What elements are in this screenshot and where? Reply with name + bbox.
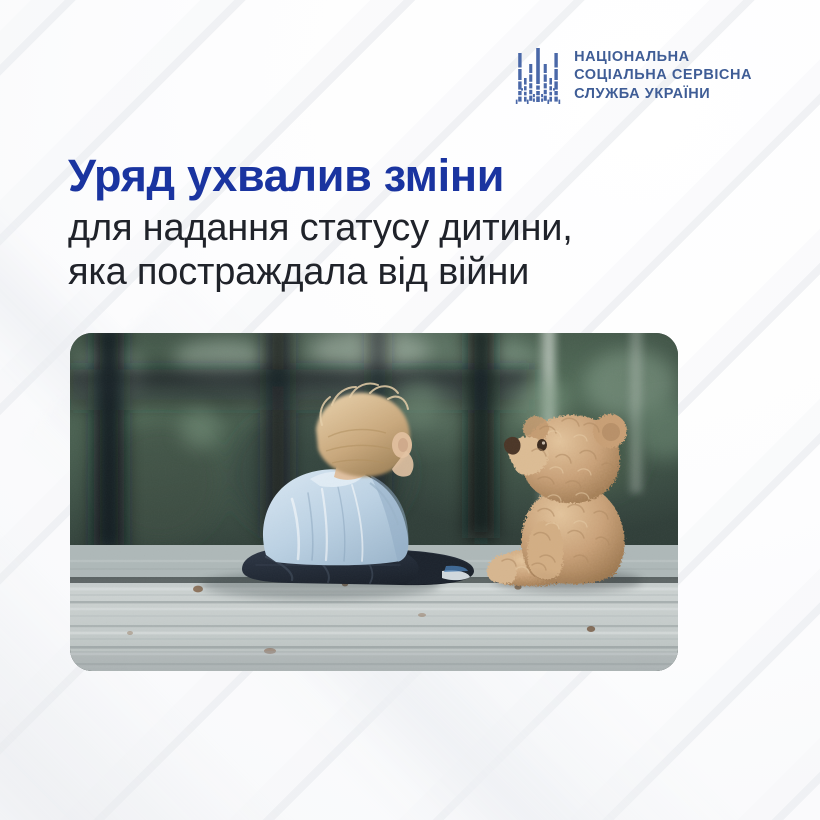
logo-line-3: СЛУЖБА УКРАЇНИ — [574, 87, 752, 103]
headline-subline-2: яка постраждала від війни — [68, 250, 758, 294]
tryzub-emblem-icon — [515, 48, 561, 104]
organization-name: НАЦІОНАЛЬНА СОЦІАЛЬНА СЕРВІСНА СЛУЖБА УК… — [574, 50, 752, 103]
organization-logo: НАЦІОНАЛЬНА СОЦІАЛЬНА СЕРВІСНА СЛУЖБА УК… — [515, 48, 752, 104]
poster-canvas: НАЦІОНАЛЬНА СОЦІАЛЬНА СЕРВІСНА СЛУЖБА УК… — [0, 0, 820, 820]
headline-block: Уряд ухвалив зміни для надання статусу д… — [68, 152, 758, 295]
hero-photo — [70, 333, 678, 671]
logo-line-2: СОЦІАЛЬНА СЕРВІСНА — [574, 68, 752, 84]
headline-primary: Уряд ухвалив зміни — [68, 152, 758, 200]
logo-line-1: НАЦІОНАЛЬНА — [574, 50, 752, 66]
headline-subline-1: для надання статусу дитини, — [68, 206, 758, 250]
